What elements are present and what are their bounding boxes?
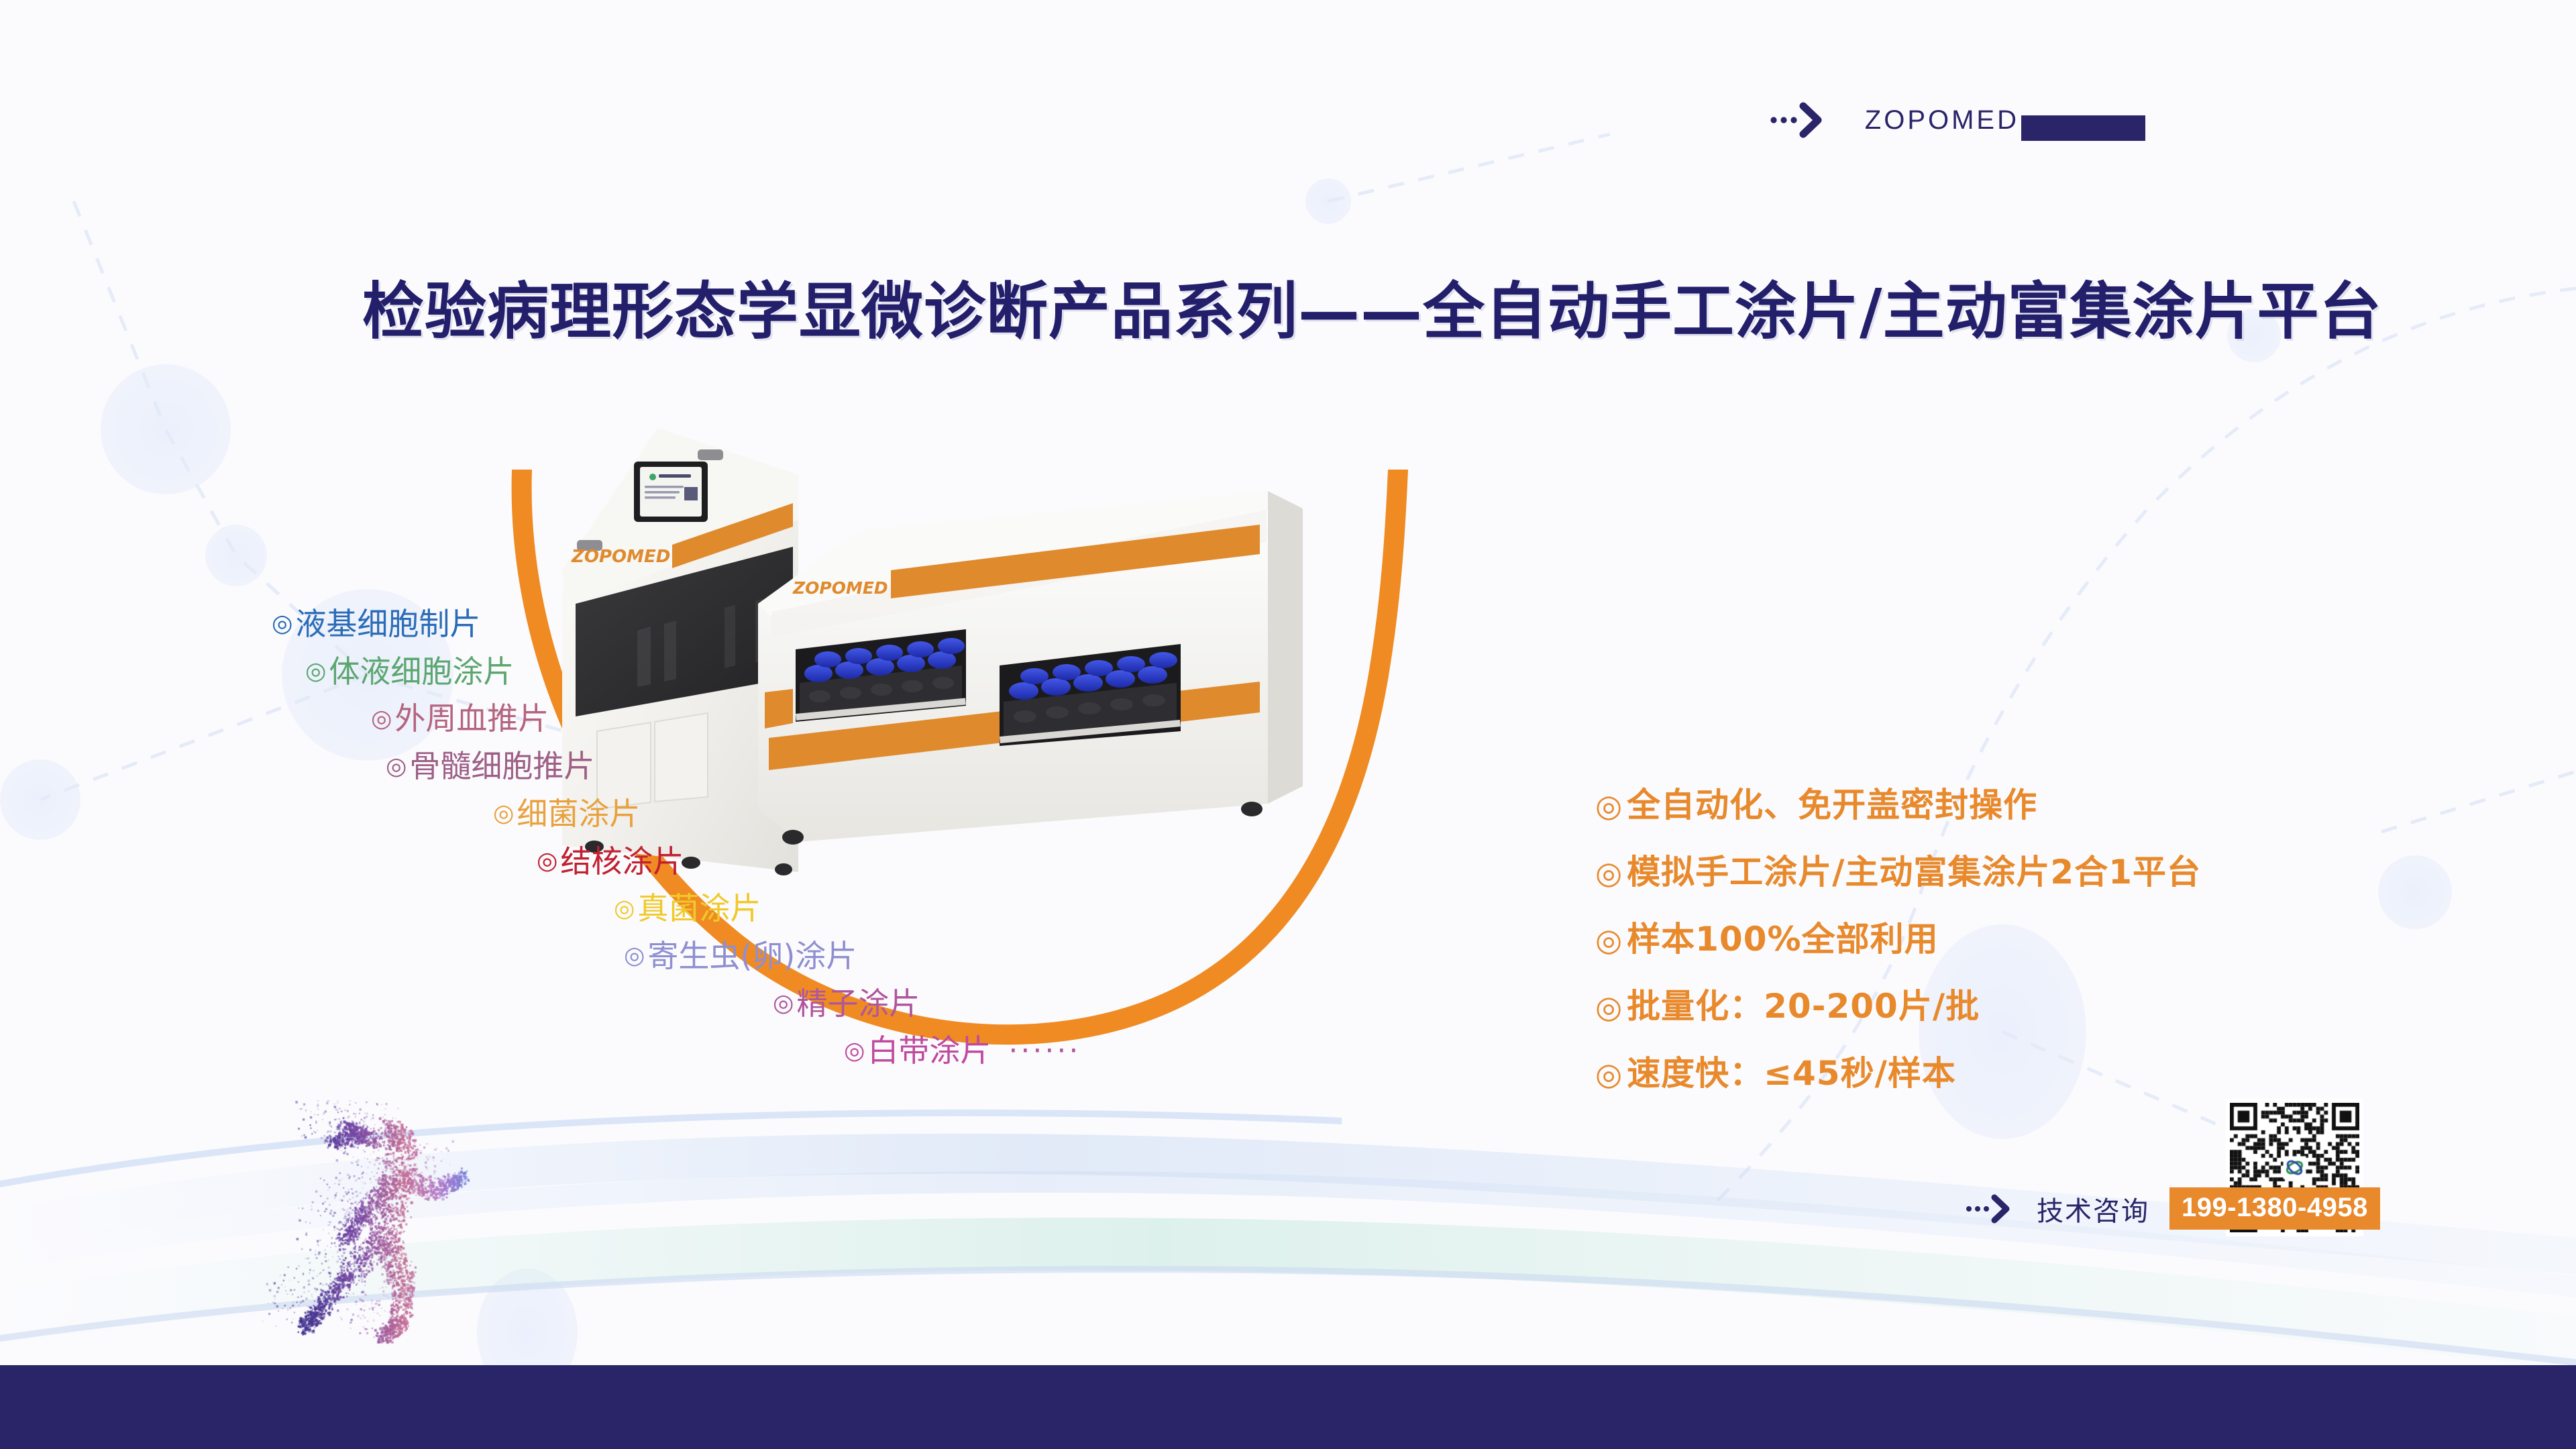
page-title: 检验病理形态学显微诊断产品系列——全自动手工涂片/主动富集涂片平台 <box>362 262 2382 351</box>
brand-bar <box>2021 115 2145 141</box>
application-label-text: 精子涂片 <box>796 983 920 1024</box>
application-label: ◎外周血推片 <box>371 698 1140 739</box>
application-label: ◎体液细胞涂片 <box>305 651 1140 692</box>
feature-item-text: 模拟手工涂片/主动富集涂片2合1平台 <box>1627 845 2201 894</box>
dotted-arrow-right-icon <box>1770 101 1830 140</box>
application-label: ◎寄生虫(卵)涂片 <box>624 936 1140 977</box>
feature-item: ◎样本100%全部利用 <box>1595 912 2201 961</box>
bullet-ring-icon: ◎ <box>773 991 794 1016</box>
bullet-ring-icon: ◎ <box>305 659 326 684</box>
application-label-text: 体液细胞涂片 <box>329 651 514 692</box>
bullet-ring-icon: ◎ <box>272 612 292 636</box>
bullet-ring-icon: ◎ <box>1595 855 1623 891</box>
feature-list: ◎全自动化、免开盖密封操作◎模拟手工涂片/主动富集涂片2合1平台◎样本100%全… <box>1595 778 2201 1114</box>
application-label: ◎真菌涂片 <box>614 888 1140 929</box>
feature-item: ◎全自动化、免开盖密封操作 <box>1595 778 2201 826</box>
application-label-list: ◎液基细胞制片◎体液细胞涂片◎外周血推片◎骨髓细胞推片◎细菌涂片◎结核涂片◎真菌… <box>0 604 1140 1078</box>
bottom-bar <box>0 1365 2576 1449</box>
application-label: ◎白带涂片······ <box>844 1030 1140 1071</box>
feature-item-text: 批量化：20-200片/批 <box>1627 979 1980 1028</box>
application-label: ◎精子涂片 <box>773 983 1140 1024</box>
particle-runner-silhouette <box>262 1100 543 1382</box>
bullet-ring-icon: ◎ <box>614 897 635 921</box>
feature-item-text: 样本100%全部利用 <box>1627 912 1938 961</box>
application-label-text: 外周血推片 <box>394 698 549 739</box>
feature-item: ◎批量化：20-200片/批 <box>1595 979 2201 1028</box>
application-label-text: 真菌涂片 <box>637 888 761 929</box>
application-label-text: 细菌涂片 <box>517 794 640 835</box>
application-label-text: 骨髓细胞推片 <box>409 746 594 787</box>
bullet-ring-icon: ◎ <box>1595 1056 1623 1092</box>
application-label: ◎骨髓细胞推片 <box>386 746 1140 787</box>
bullet-ring-icon: ◎ <box>1595 922 1623 958</box>
bullet-ring-icon: ◎ <box>1595 788 1623 824</box>
contact-label: 技术咨询 <box>2037 1189 2149 1228</box>
application-label: ◎液基细胞制片 <box>272 604 1140 645</box>
poster-canvas: ZOPOMED 检验病理形态学显微诊断产品系列——全自动手工涂片/主动富集涂片平… <box>0 0 2576 1449</box>
application-label-text: 白带涂片 <box>867 1030 991 1071</box>
application-label: ◎结核涂片 <box>537 841 1140 882</box>
brand-name: ZOPOMED <box>1865 105 2019 136</box>
application-label-text: 寄生虫(卵)涂片 <box>647 936 857 977</box>
trailing-ellipsis: ······ <box>1008 1032 1081 1071</box>
bullet-ring-icon: ◎ <box>1595 989 1623 1025</box>
feature-item-text: 全自动化、免开盖密封操作 <box>1627 778 2037 826</box>
application-label-text: 结核涂片 <box>560 841 684 882</box>
feature-item: ◎速度快：≤45秒/样本 <box>1595 1046 2201 1095</box>
bullet-ring-icon: ◎ <box>844 1039 865 1063</box>
application-label: ◎细菌涂片 <box>493 794 1140 835</box>
header-brand: ZOPOMED <box>1770 101 2019 140</box>
bullet-ring-icon: ◎ <box>624 944 645 968</box>
svg-text:ZOPOMED: ZOPOMED <box>792 578 888 598</box>
phone-badge[interactable]: 199-1380-4958 <box>2169 1187 2380 1230</box>
bullet-ring-icon: ◎ <box>537 849 557 873</box>
dotted-arrow-right-icon <box>1966 1193 2017 1225</box>
contact-row: 技术咨询 199-1380-4958 <box>1966 1187 2380 1230</box>
feature-item: ◎模拟手工涂片/主动富集涂片2合1平台 <box>1595 845 2201 894</box>
application-label-text: 液基细胞制片 <box>295 604 480 645</box>
bullet-ring-icon: ◎ <box>371 707 392 731</box>
feature-item-text: 速度快：≤45秒/样本 <box>1627 1046 1956 1095</box>
bullet-ring-icon: ◎ <box>386 755 407 779</box>
bullet-ring-icon: ◎ <box>493 802 514 826</box>
svg-text:ZOPOMED: ZOPOMED <box>571 547 670 567</box>
